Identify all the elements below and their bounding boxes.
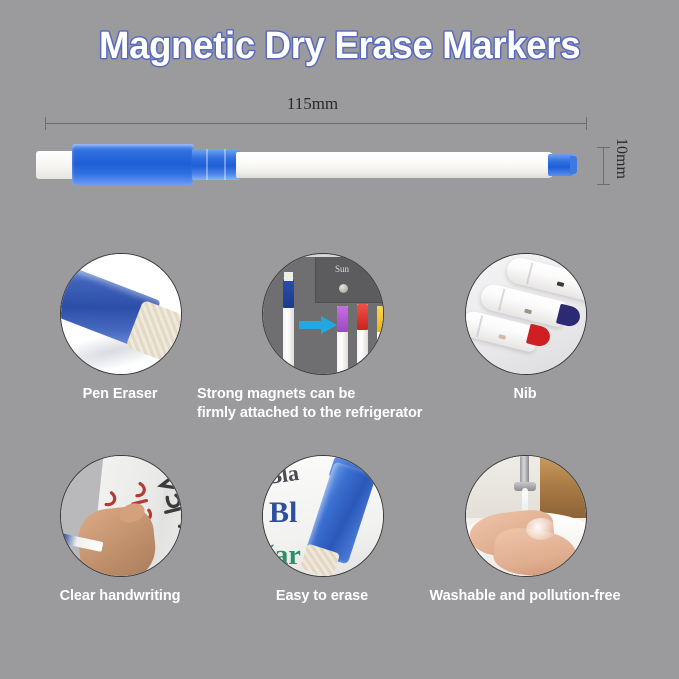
- feature-handwriting: Clear handwriting: [60, 455, 180, 606]
- marker-collar-ring: [224, 149, 226, 180]
- width-dimension-line: [45, 123, 586, 124]
- marker-print: [557, 281, 565, 287]
- feature-image-erase: Bla Bl (ar: [262, 455, 384, 577]
- height-dimension-line: [603, 147, 604, 184]
- board-writing-3: (ar: [265, 540, 301, 572]
- page-title-text: Magnetic Dry Erase Markers: [99, 27, 580, 67]
- height-dimension-label: 10mm: [612, 138, 630, 179]
- marker-print: [498, 334, 506, 340]
- marker-eraser-white: [284, 272, 293, 281]
- feature-caption-erase: Easy to erase: [262, 587, 382, 606]
- feature-pen-eraser: Pen Eraser: [60, 253, 180, 404]
- marker-cap: [72, 144, 194, 185]
- refrigerator-strip: [303, 253, 347, 257]
- refrigerator-label: Sun: [335, 264, 349, 274]
- magnet-marker-blue: [283, 278, 294, 375]
- marker-cap-blue: [283, 278, 294, 308]
- marker-barrel: [236, 152, 554, 178]
- feature-image-nib: [465, 253, 587, 375]
- board-writing-2: Bl: [269, 496, 297, 530]
- product-infographic: Magnetic Dry Erase Markers 115mm 10mm Pe…: [0, 0, 679, 679]
- feature-erase: Bla Bl (ar Easy to erase: [262, 455, 382, 606]
- feature-washable: Washable and pollution-free: [465, 455, 585, 606]
- arrow-right-icon: [299, 316, 337, 334]
- feature-image-washable: [465, 455, 587, 577]
- refrigerator-panel: [315, 253, 384, 303]
- feature-caption-magnets: Strong magnets can be firmly attached to…: [197, 385, 447, 422]
- marker-collar-ring: [206, 149, 208, 180]
- width-dimension-label: 115mm: [0, 94, 625, 114]
- marker-print: [524, 309, 532, 315]
- page-title: Magnetic Dry Erase Markers: [0, 27, 679, 67]
- board-writing-1: Bla: [265, 460, 300, 490]
- refrigerator-knob: [339, 284, 348, 293]
- nib-tip-olive: [586, 282, 587, 307]
- feature-caption-washable: Washable and pollution-free: [410, 587, 640, 606]
- feature-image-pen-eraser: [60, 253, 182, 375]
- wall-surface: [466, 456, 550, 518]
- width-tick-left: [45, 117, 46, 130]
- feature-image-magnets: Sun: [262, 253, 384, 375]
- feature-image-handwriting: [60, 455, 182, 577]
- magnet-marker-purple: [337, 306, 348, 375]
- feature-magnets: Sun Strong magnets can be firmly attache…: [262, 253, 382, 422]
- marker-collar: [192, 149, 240, 180]
- marker-eraser-tip: [36, 151, 76, 179]
- wood-panel: [540, 456, 586, 518]
- marker-nib-end-cap: [570, 156, 577, 174]
- feature-nib: Nib: [465, 253, 585, 404]
- width-tick-right: [586, 117, 587, 130]
- feature-caption-handwriting: Clear handwriting: [20, 587, 220, 606]
- height-tick-bottom: [597, 184, 610, 185]
- marker-cap-purple: [337, 306, 348, 332]
- marker-ring: [526, 263, 533, 285]
- marker-cap-red: [357, 304, 368, 330]
- marker-illustration: [36, 141, 596, 189]
- feature-caption-nib: Nib: [465, 385, 585, 404]
- feature-caption-pen-eraser: Pen Eraser: [60, 385, 180, 404]
- marker-ring: [498, 289, 505, 311]
- soap-foam: [526, 518, 556, 540]
- marker-cap-yellow: [377, 306, 384, 332]
- height-tick-top: [597, 147, 610, 148]
- magnet-marker-yellow: [377, 306, 384, 375]
- marker-ring: [476, 315, 483, 337]
- magnet-marker-red: [357, 304, 368, 375]
